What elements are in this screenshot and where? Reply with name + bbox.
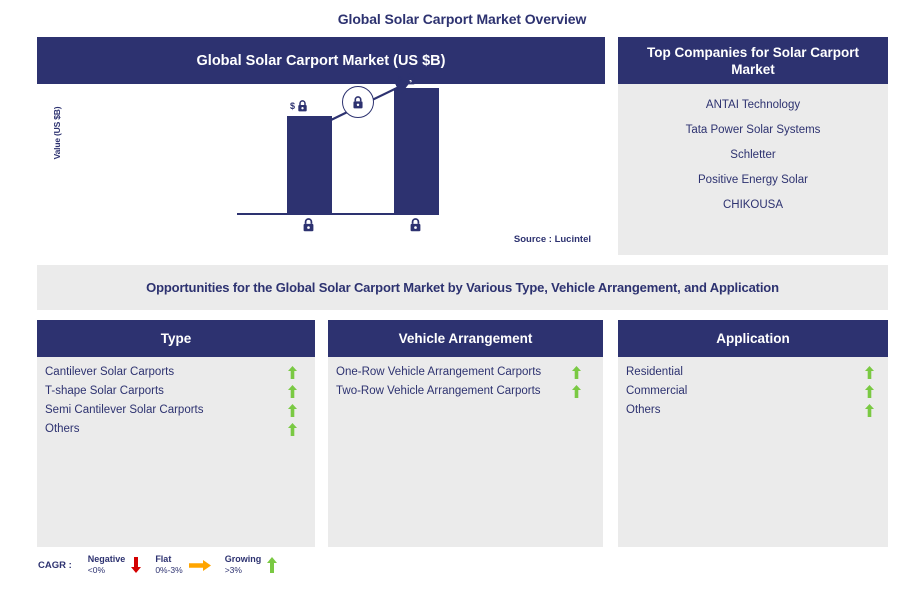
cagr-legend-growing-range: >3% (225, 565, 262, 576)
arrow-up-icon (288, 385, 297, 398)
arrow-up-icon (572, 385, 581, 398)
list-item-label: Two-Row Vehicle Arrangement Carports (336, 384, 541, 399)
chart-y-axis-label: Value (US $B) (52, 89, 62, 177)
opportunities-banner: Opportunities for the Global Solar Carpo… (37, 265, 888, 310)
cagr-legend-growing-name: Growing (225, 554, 262, 565)
list-item: Positive Energy Solar (618, 167, 888, 192)
list-item: CHIKOUSA (618, 192, 888, 217)
chart-x-axis-line (237, 213, 439, 215)
list-item: Others (626, 401, 874, 420)
cagr-legend-item-growing: Growing >3% (225, 554, 278, 576)
dollar-sign-label: $ (398, 74, 403, 84)
list-item: Schletter (618, 142, 888, 167)
list-item: Semi Cantilever Solar Carports (45, 401, 297, 420)
list-item-label: Semi Cantilever Solar Carports (45, 403, 204, 418)
list-item-label: Residential (626, 365, 683, 380)
chart-bar-1 (287, 116, 332, 213)
chart-bar-2-value-label: $ (398, 73, 416, 85)
top-companies-card: Top Companies for Solar Carport Market A… (618, 37, 888, 255)
category-panel-type: Type Cantilever Solar Carports T-shape S… (37, 320, 315, 547)
market-chart-header: Global Solar Carport Market (US $B) (37, 37, 605, 84)
list-item-label: Cantilever Solar Carports (45, 365, 174, 380)
arrow-up-icon (288, 404, 297, 417)
cagr-legend-negative-text: Negative <0% (88, 554, 126, 576)
list-item: Commercial (626, 382, 874, 401)
dollar-sign-label: $ (290, 101, 295, 111)
top-companies-list: ANTAI Technology Tata Power Solar System… (618, 84, 888, 217)
cagr-legend-flat-range: 0%-3% (155, 565, 182, 576)
category-header-type: Type (37, 320, 315, 357)
category-list-application: Residential Commercial Others (618, 357, 888, 420)
market-chart-card: Global Solar Carport Market (US $B) Valu… (37, 37, 605, 255)
arrow-up-icon (267, 557, 277, 573)
list-item: ANTAI Technology (618, 92, 888, 117)
cagr-legend-flat-name: Flat (155, 554, 182, 565)
chart-source-note: Source : Lucintel (514, 234, 591, 245)
lock-icon (297, 100, 308, 112)
arrow-up-icon (865, 385, 874, 398)
chart-bar-1-value-label: $ (290, 100, 308, 112)
cagr-legend-growing-text: Growing >3% (225, 554, 262, 576)
market-chart-body: Value (US $B) $ $ (37, 84, 605, 255)
cagr-legend-negative-range: <0% (88, 565, 126, 576)
category-list-vehicle-arrangement: One-Row Vehicle Arrangement Carports Two… (328, 357, 603, 401)
category-panel-vehicle-arrangement: Vehicle Arrangement One-Row Vehicle Arra… (328, 320, 603, 547)
arrow-down-icon (131, 557, 141, 573)
category-header-application: Application (618, 320, 888, 357)
chart-bar-2 (394, 88, 439, 213)
chart-x-tick-1-lock-icon (302, 218, 315, 232)
list-item-label: Others (45, 422, 80, 437)
arrow-up-icon (288, 366, 297, 379)
list-item: Cantilever Solar Carports (45, 363, 297, 382)
cagr-legend-negative-name: Negative (88, 554, 126, 565)
infographic-page: Global Solar Carport Market Overview Glo… (0, 0, 924, 598)
list-item-label: T-shape Solar Carports (45, 384, 164, 399)
top-companies-header: Top Companies for Solar Carport Market (618, 37, 888, 84)
list-item-label: One-Row Vehicle Arrangement Carports (336, 365, 541, 380)
category-panel-application: Application Residential Commercial Other… (618, 320, 888, 547)
list-item-label: Others (626, 403, 661, 418)
arrow-up-icon (288, 423, 297, 436)
list-item: Residential (626, 363, 874, 382)
category-header-vehicle-arrangement: Vehicle Arrangement (328, 320, 603, 357)
list-item: Two-Row Vehicle Arrangement Carports (336, 382, 581, 401)
cagr-legend-item-negative: Negative <0% (88, 554, 142, 576)
cagr-legend-flat-text: Flat 0%-3% (155, 554, 182, 576)
arrow-up-icon (572, 366, 581, 379)
list-item: One-Row Vehicle Arrangement Carports (336, 363, 581, 382)
arrow-up-icon (865, 404, 874, 417)
category-list-type: Cantilever Solar Carports T-shape Solar … (37, 357, 315, 439)
lock-icon (405, 73, 416, 85)
page-title: Global Solar Carport Market Overview (0, 11, 924, 27)
list-item: T-shape Solar Carports (45, 382, 297, 401)
list-item: Tata Power Solar Systems (618, 117, 888, 142)
chart-x-tick-2-lock-icon (409, 218, 422, 232)
arrow-right-icon (189, 560, 211, 571)
arrow-up-icon (865, 366, 874, 379)
cagr-legend-title: CAGR : (38, 560, 72, 571)
cagr-bubble-lock-icon (342, 86, 374, 118)
list-item-label: Commercial (626, 384, 687, 399)
opportunities-banner-text: Opportunities for the Global Solar Carpo… (146, 280, 779, 295)
cagr-legend: CAGR : Negative <0% Flat 0%-3% Growing >… (38, 554, 291, 576)
list-item: Others (45, 420, 297, 439)
cagr-legend-item-flat: Flat 0%-3% (155, 554, 210, 576)
